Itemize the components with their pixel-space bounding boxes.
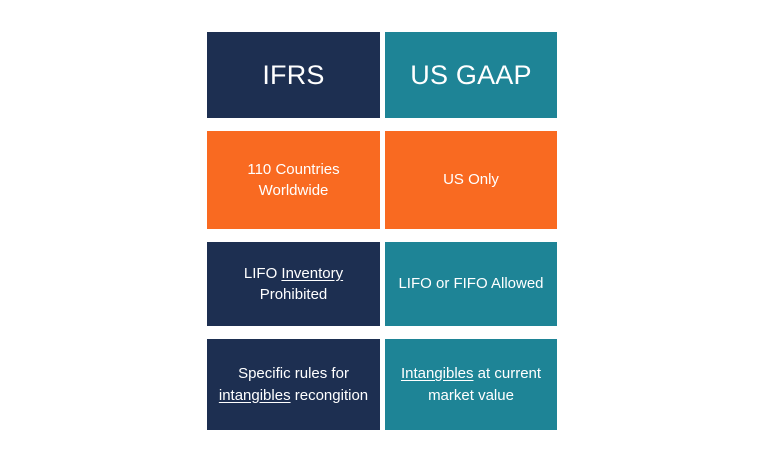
plain-text: 110 Countries (247, 161, 339, 178)
plain-text: Prohibited (260, 286, 328, 303)
cell-ifrs-inventory-text: LIFO Inventory Prohibited (215, 263, 372, 306)
cell-us-gaap-inventory: LIFO or FIFO Allowed (385, 242, 557, 326)
emphasized-term: Inventory (281, 265, 343, 282)
plain-text: US Only (443, 171, 499, 188)
cell-ifrs-scope: 110 Countries Worldwide (207, 131, 380, 229)
cell-us-gaap-intangibles-text: Intangibles at current market value (393, 363, 549, 406)
cell-us-gaap-inventory-text: LIFO or FIFO Allowed (393, 273, 549, 294)
plain-text: LIFO or FIFO Allowed (398, 275, 543, 292)
cell-us-gaap-scope-text: US Only (393, 169, 549, 190)
cell-ifrs-inventory: LIFO Inventory Prohibited (207, 242, 380, 326)
ifrs-vs-us-gaap-comparison-table: IFRS US GAAP 110 Countries Worldwide US … (207, 32, 557, 431)
column-header-ifrs: IFRS (207, 32, 380, 118)
cell-ifrs-intangibles-text: Specific rules for intangibles recongiti… (215, 363, 372, 406)
column-header-us-gaap-label: US GAAP (393, 60, 549, 90)
plain-text: Worldwide (259, 182, 329, 199)
column-header-us-gaap: US GAAP (385, 32, 557, 118)
cell-us-gaap-intangibles: Intangibles at current market value (385, 339, 557, 430)
cell-ifrs-intangibles: Specific rules for intangibles recongiti… (207, 339, 380, 430)
plain-text: LIFO (244, 265, 282, 282)
plain-text: recongition (291, 387, 369, 404)
plain-text: Specific rules for (238, 365, 349, 382)
cell-ifrs-scope-text: 110 Countries Worldwide (215, 159, 372, 202)
emphasized-term: Intangibles (401, 365, 474, 382)
column-header-ifrs-label: IFRS (215, 60, 372, 90)
emphasized-term: intangibles (219, 387, 291, 404)
cell-us-gaap-scope: US Only (385, 131, 557, 229)
